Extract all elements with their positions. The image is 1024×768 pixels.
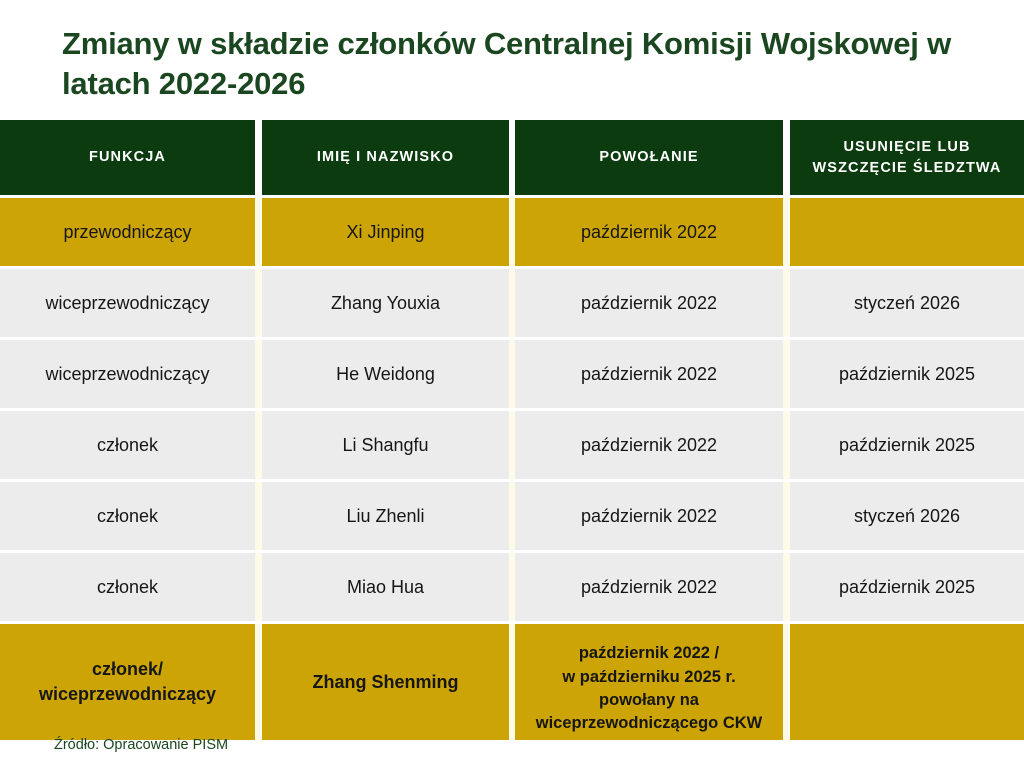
cell-usuniecie [790, 198, 1024, 266]
cell-funkcja: przewodniczący [0, 198, 255, 266]
cell-nazwisko: He Weidong [262, 340, 509, 408]
column-header-powolanie: POWOŁANIE [515, 120, 783, 195]
cell-powolanie: październik 2022 [515, 340, 783, 408]
cell-powolanie-line1: październik 2022 / [536, 642, 762, 665]
infographic-page: Zmiany w składzie członków Centralnej Ko… [0, 0, 1024, 768]
cell-powolanie: październik 2022 [515, 411, 783, 479]
cell-usuniecie [790, 624, 1024, 740]
table-row: wiceprzewodniczący He Weidong październi… [0, 340, 1024, 408]
cell-nazwisko: Zhang Shenming [262, 624, 509, 740]
cell-powolanie-line2: w październiku 2025 r. [536, 666, 762, 689]
table-row: członek/ wiceprzewodniczący Zhang Shenmi… [0, 624, 1024, 740]
cell-funkcja: członek [0, 553, 255, 621]
cell-nazwisko: Zhang Youxia [262, 269, 509, 337]
cell-funkcja: wiceprzewodniczący [0, 340, 255, 408]
cell-powolanie: październik 2022 [515, 553, 783, 621]
cell-powolanie: październik 2022 [515, 269, 783, 337]
column-header-usuniecie-line2: WSZCZĘCIE ŚLEDZTWA [813, 158, 1002, 178]
cell-funkcja-line1: członek/ [39, 657, 216, 682]
column-header-funkcja: FUNKCJA [0, 120, 255, 195]
column-header-imie-nazwisko: IMIĘ I NAZWISKO [262, 120, 509, 195]
table-row: wiceprzewodniczący Zhang Youxia paździer… [0, 269, 1024, 337]
cell-nazwisko: Li Shangfu [262, 411, 509, 479]
table-header-row: FUNKCJA IMIĘ I NAZWISKO POWOŁANIE USUNIĘ… [0, 120, 1024, 195]
table-row: przewodniczący Xi Jinping październik 20… [0, 198, 1024, 266]
cell-funkcja: członek/ wiceprzewodniczący [0, 624, 255, 740]
page-title: Zmiany w składzie członków Centralnej Ko… [62, 24, 962, 103]
column-header-usuniecie: USUNIĘCIE LUB WSZCZĘCIE ŚLEDZTWA [790, 120, 1024, 195]
source-note: Źródło: Opracowanie PISM [54, 737, 228, 753]
table-row: członek Li Shangfu październik 2022 paźd… [0, 411, 1024, 479]
cell-powolanie-line4: wiceprzewodniczącego CKW [536, 712, 762, 735]
cell-nazwisko: Miao Hua [262, 553, 509, 621]
cell-usuniecie: październik 2025 [790, 553, 1024, 621]
cell-funkcja-line2: wiceprzewodniczący [39, 682, 216, 707]
column-header-usuniecie-line1: USUNIĘCIE LUB [813, 137, 1002, 157]
cell-funkcja: członek [0, 411, 255, 479]
table-row: członek Miao Hua październik 2022 paździ… [0, 553, 1024, 621]
cell-powolanie: październik 2022 / w październiku 2025 r… [515, 624, 783, 740]
cell-nazwisko: Liu Zhenli [262, 482, 509, 550]
cell-powolanie-line3: powołany na [536, 689, 762, 712]
cell-powolanie: październik 2022 [515, 482, 783, 550]
cell-usuniecie: październik 2025 [790, 411, 1024, 479]
table-row: członek Liu Zhenli październik 2022 styc… [0, 482, 1024, 550]
cell-usuniecie: styczeń 2026 [790, 269, 1024, 337]
cell-usuniecie: styczeń 2026 [790, 482, 1024, 550]
data-table: FUNKCJA IMIĘ I NAZWISKO POWOŁANIE USUNIĘ… [0, 120, 1024, 740]
cell-funkcja: wiceprzewodniczący [0, 269, 255, 337]
cell-nazwisko: Xi Jinping [262, 198, 509, 266]
cell-funkcja: członek [0, 482, 255, 550]
cell-powolanie: październik 2022 [515, 198, 783, 266]
cell-usuniecie: październik 2025 [790, 340, 1024, 408]
